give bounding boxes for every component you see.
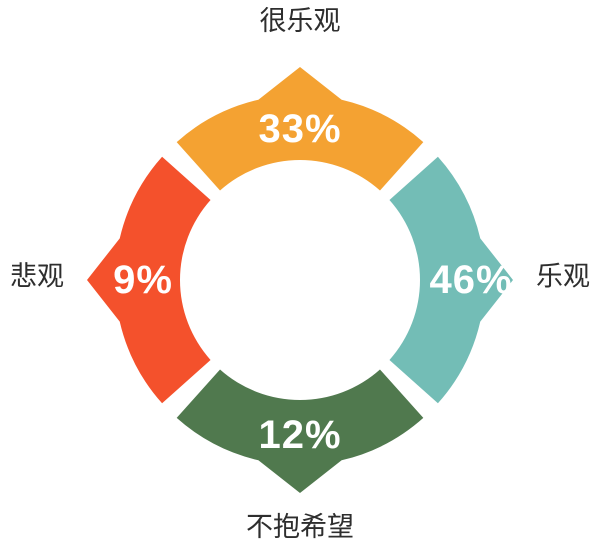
donut-chart: 33% 46% 12% 9% 很乐观 乐观 不抱希望 悲观 xyxy=(0,0,600,553)
segment-value-top: 33% xyxy=(258,107,341,151)
segment-value-bottom: 12% xyxy=(258,413,341,457)
category-label-bottom: 不抱希望 xyxy=(246,514,354,541)
category-label-top: 很乐观 xyxy=(260,8,341,35)
donut-chart-svg: 33% 46% 12% 9% xyxy=(0,0,600,553)
segment-value-right: 46% xyxy=(429,258,512,302)
category-label-left: 悲观 xyxy=(10,263,64,290)
category-label-right: 乐观 xyxy=(536,263,590,290)
segment-value-left: 9% xyxy=(113,258,173,302)
